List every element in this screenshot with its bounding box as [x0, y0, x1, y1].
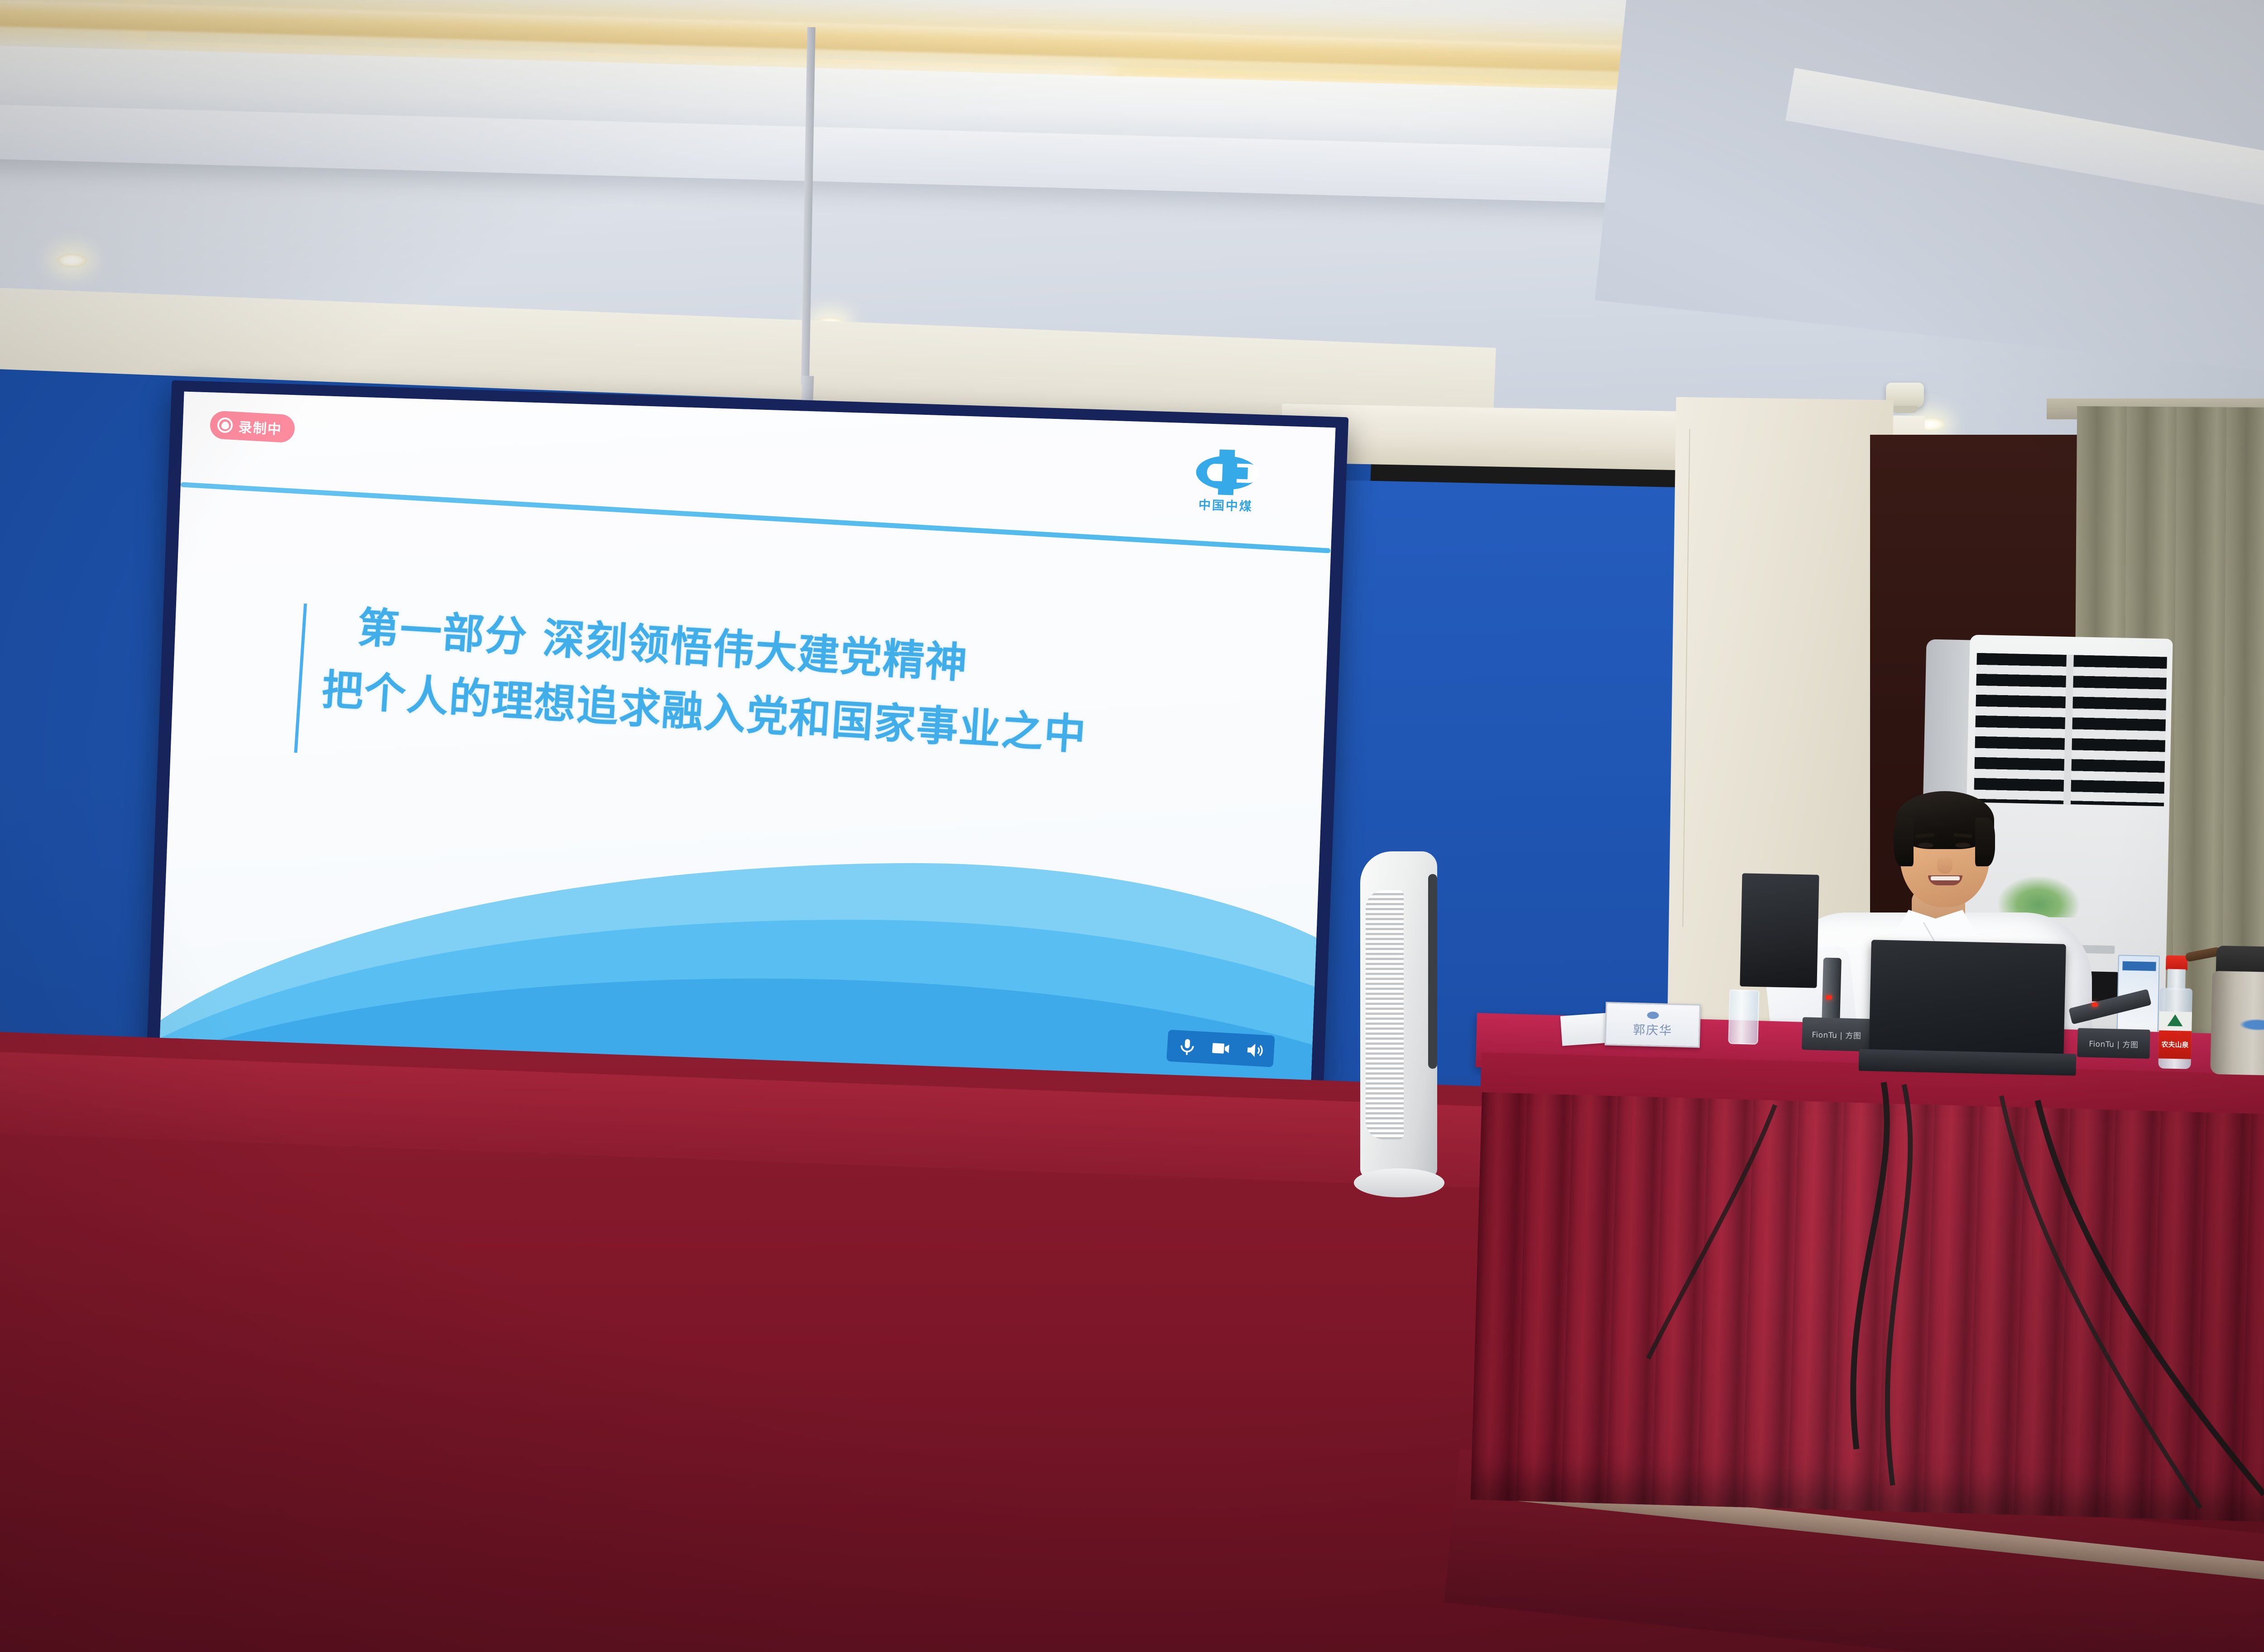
thermos-logo-icon	[2239, 1018, 2264, 1031]
microphone-brand-label: FionTu | 方图	[1812, 1028, 1861, 1041]
recording-badge: 录制中	[209, 410, 296, 443]
slide-title-block: 第一部分 深刻领悟伟大建党精神 把个人的理想追求融入党和国家事业之中	[297, 599, 1289, 773]
projection-screen[interactable]: 录制中 中国中煤 第一部分 深刻领悟伟大建党精神 把个人	[146, 380, 1349, 1117]
camera-icon[interactable]	[1210, 1038, 1232, 1059]
china-coal-logo-text: 中国中煤	[1185, 495, 1266, 515]
name-plate-logo-icon	[1647, 1012, 1659, 1019]
speaker-icon[interactable]	[1243, 1040, 1265, 1061]
downlight	[57, 254, 87, 267]
microphone-2-status-led	[2092, 1003, 2098, 1007]
microphone-status-led	[1826, 995, 1832, 999]
slide-title-accent-bar	[294, 604, 307, 753]
tower-fan	[1354, 851, 1444, 1196]
meeting-control-bar[interactable]	[1166, 1030, 1275, 1067]
desk-microphone-stalk	[1822, 958, 1842, 1026]
slide-divider-rule	[181, 482, 1331, 553]
name-plate-text: 郭庆华	[1633, 1020, 1673, 1038]
conference-room-scene: 录制中 中国中煤 第一部分 深刻领悟伟大建党精神 把个人	[0, 0, 2264, 1652]
power-cables	[1494, 1042, 2264, 1562]
microphone-icon[interactable]	[1177, 1036, 1198, 1057]
bottle-cap	[2166, 956, 2188, 970]
water-glass	[1728, 989, 1759, 1045]
paper-stack	[1560, 1013, 1611, 1046]
presentation-slide: 录制中 中国中煤 第一部分 深刻领悟伟大建党精神 把个人	[159, 392, 1336, 1105]
china-coal-logo-mark-icon	[1195, 450, 1259, 495]
recording-dot-icon	[217, 417, 233, 433]
mountain-icon	[2167, 1014, 2183, 1027]
recording-badge-label: 录制中	[238, 416, 283, 438]
china-coal-logo: 中国中煤	[1185, 449, 1268, 515]
screen-display-area: 录制中 中国中煤 第一部分 深刻领悟伟大建党精神 把个人	[159, 392, 1336, 1105]
name-plate: 郭庆华	[1605, 1002, 1701, 1047]
monitor-rear	[1740, 873, 1819, 988]
